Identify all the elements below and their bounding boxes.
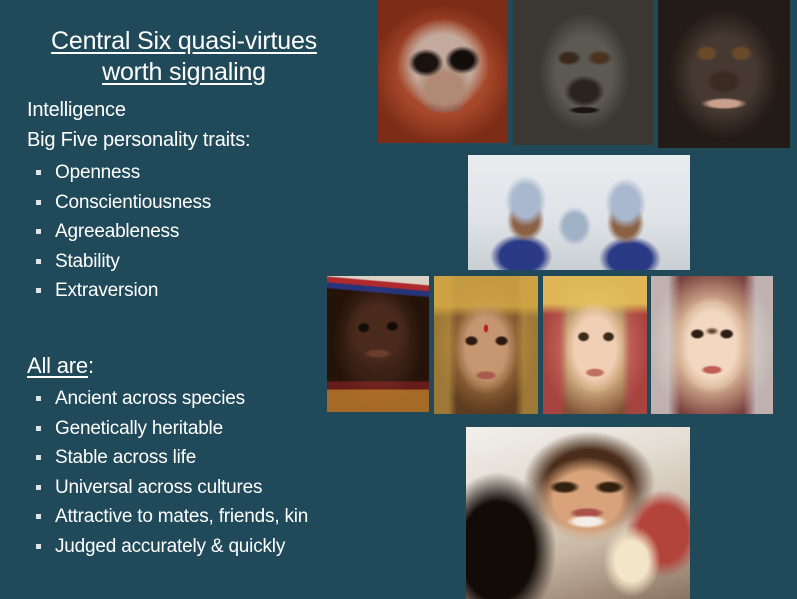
orangutan-photo	[378, 0, 508, 143]
slide-title-line-1: Central Six quasi-virtues	[51, 27, 317, 55]
toast-photo	[466, 427, 690, 599]
bonobo-photo-image	[658, 0, 790, 148]
square-bullet-icon	[36, 426, 41, 431]
list-item: Genetically heritable	[0, 414, 308, 444]
list-item-label: Universal across cultures	[55, 477, 262, 498]
gorilla-photo	[513, 0, 653, 145]
all-are-property-list: Ancient across species Genetically herit…	[0, 384, 308, 561]
square-bullet-icon	[36, 229, 41, 234]
list-item-label: Attractive to mates, friends, kin	[55, 506, 308, 527]
section-heading-label: All are	[27, 353, 88, 378]
square-bullet-icon	[36, 200, 41, 205]
list-item-label: Stability	[55, 251, 120, 272]
list-item: Stability	[0, 247, 211, 277]
surgeons-photo-image	[468, 155, 690, 270]
slavic-woman-photo	[543, 276, 647, 414]
slide-title-line-2: worth signaling	[102, 58, 266, 86]
maasai-woman-photo	[327, 276, 429, 412]
toast-photo-image	[466, 427, 690, 599]
list-item-label: Ancient across species	[55, 388, 245, 409]
list-item-label: Extraversion	[55, 280, 158, 301]
list-item: Judged accurately & quickly	[0, 532, 308, 562]
list-item: Openness	[0, 158, 211, 188]
list-item-label: Judged accurately & quickly	[55, 536, 285, 557]
list-item: Stable across life	[0, 443, 308, 473]
list-item-label: Genetically heritable	[55, 418, 223, 439]
asian-woman-photo	[651, 276, 773, 414]
list-item: Ancient across species	[0, 384, 308, 414]
gorilla-photo-image	[513, 0, 653, 145]
presentation-slide: Central Six quasi-virtues worth signalin…	[0, 0, 797, 599]
square-bullet-icon	[36, 288, 41, 293]
list-item-label: Openness	[55, 162, 140, 183]
list-item: Conscientiousness	[0, 188, 211, 218]
square-bullet-icon	[36, 396, 41, 401]
slavic-woman-photo-image	[543, 276, 647, 414]
indian-bride-photo	[434, 276, 538, 414]
orangutan-photo-image	[378, 0, 508, 143]
square-bullet-icon	[36, 259, 41, 264]
square-bullet-icon	[36, 170, 41, 175]
list-item-label: Agreeableness	[55, 221, 179, 242]
list-item: Agreeableness	[0, 217, 211, 247]
list-item-label: Conscientiousness	[55, 192, 211, 213]
list-item: Extraversion	[0, 276, 211, 306]
slide-title: Central Six quasi-virtues worth signalin…	[14, 26, 354, 88]
intro-line-intelligence: Intelligence	[27, 98, 126, 123]
slide-text-column: Central Six quasi-virtues worth signalin…	[0, 0, 380, 599]
bonobo-photo	[658, 0, 790, 148]
maasai-woman-photo-image	[327, 276, 429, 412]
section-heading-all-are: All are:	[27, 352, 94, 379]
section-heading-colon: :	[88, 353, 94, 378]
list-item: Universal across cultures	[0, 473, 308, 503]
big-five-trait-list: Openness Conscientiousness Agreeableness…	[0, 158, 211, 306]
asian-woman-photo-image	[651, 276, 773, 414]
surgeons-photo	[468, 155, 690, 270]
indian-bride-photo-image	[434, 276, 538, 414]
square-bullet-icon	[36, 544, 41, 549]
square-bullet-icon	[36, 455, 41, 460]
square-bullet-icon	[36, 514, 41, 519]
list-item-label: Stable across life	[55, 447, 196, 468]
list-item: Attractive to mates, friends, kin	[0, 502, 308, 532]
square-bullet-icon	[36, 485, 41, 490]
intro-line-big-five: Big Five personality traits:	[27, 128, 250, 153]
